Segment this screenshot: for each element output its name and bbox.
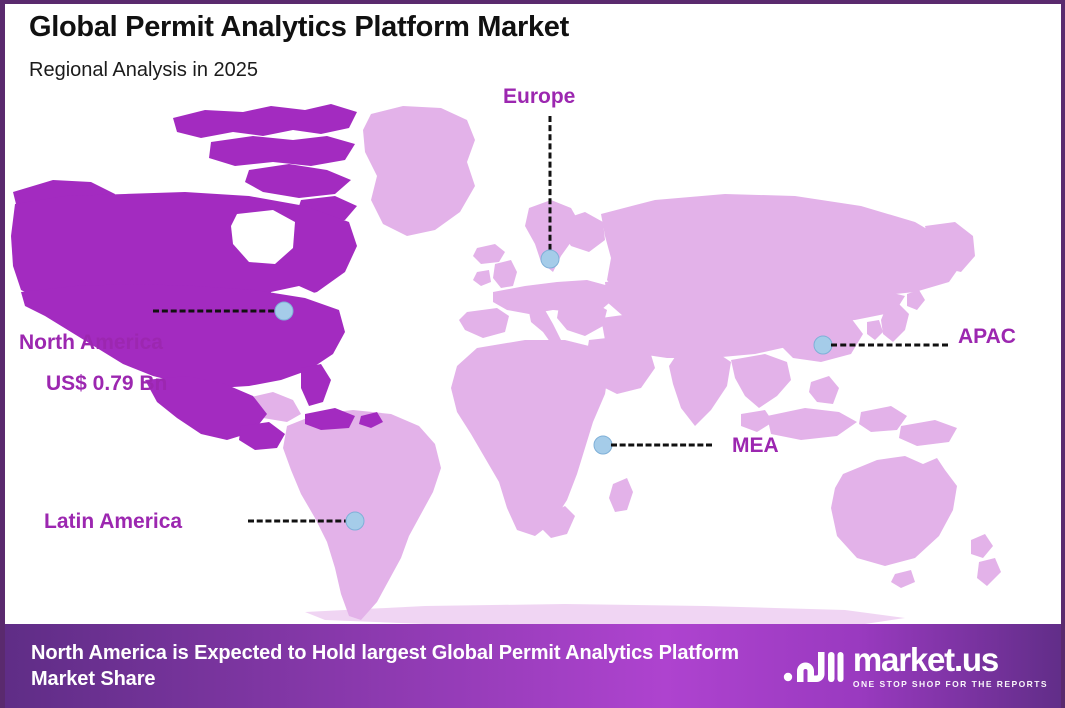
world-map	[5, 96, 1061, 624]
footer-banner: North America is Expected to Hold larges…	[5, 624, 1065, 708]
header: Global Permit Analytics Platform Market …	[29, 10, 829, 82]
world-map-container	[5, 96, 1061, 624]
logo-name: market.us	[853, 643, 998, 676]
footer-headline: North America is Expected to Hold larges…	[31, 640, 771, 692]
map-region-north-america	[11, 104, 383, 450]
market-us-logo-words: market.us ONE STOP SHOP FOR THE REPORTS	[853, 643, 1048, 690]
market-us-logo[interactable]: market.us ONE STOP SHOP FOR THE REPORTS	[782, 643, 1048, 690]
page-subtitle: Regional Analysis in 2025	[29, 58, 829, 82]
infographic-root: Global Permit Analytics Platform Market …	[0, 0, 1065, 708]
map-land-base	[247, 106, 1001, 624]
market-us-logo-mark	[782, 644, 844, 688]
logo-tagline: ONE STOP SHOP FOR THE REPORTS	[853, 678, 1048, 690]
page-title: Global Permit Analytics Platform Market	[29, 10, 829, 44]
